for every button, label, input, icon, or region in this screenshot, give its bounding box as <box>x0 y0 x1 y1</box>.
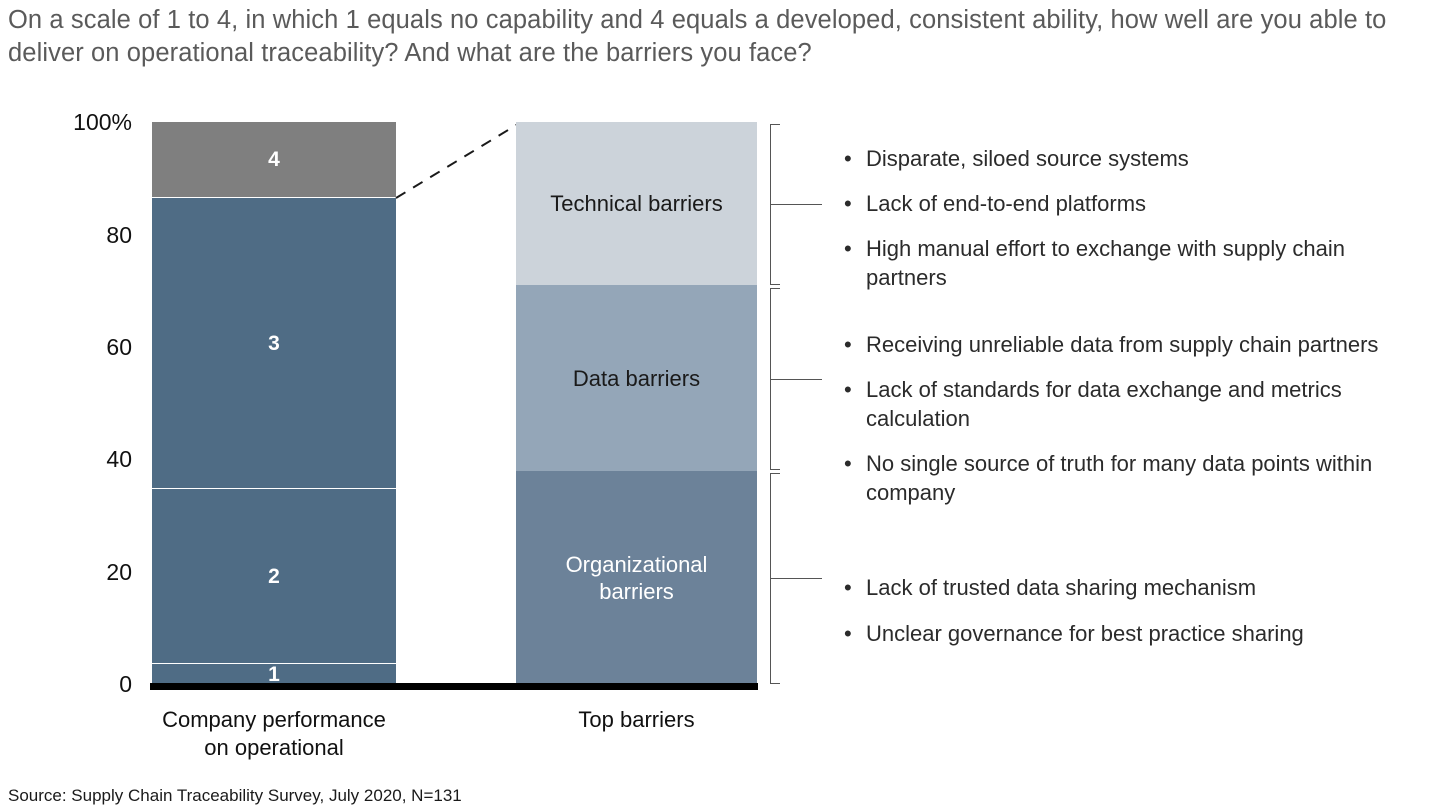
bar-segment-label-organizational-line2: barriers <box>599 579 674 604</box>
bar-segment-data-barriers[interactable]: Data barriers <box>516 285 757 471</box>
bar-segment-label-organizational: Organizational barriers <box>566 551 708 605</box>
bar-segment-score-3[interactable]: 3 <box>152 198 396 489</box>
axis-baseline <box>150 683 758 690</box>
bar-segment-organizational-barriers[interactable]: Organizational barriers <box>516 471 757 684</box>
bracket-data-cap-top <box>770 288 780 289</box>
bullet-item: • Disparate, siloed source systems <box>840 144 1420 173</box>
bullet-text: Unclear governance for best practice sha… <box>866 621 1304 646</box>
y-axis-tick-100: 100% <box>42 111 132 134</box>
x-axis-label-company-line2: on operational <box>204 735 343 760</box>
bullet-text: No single source of truth for many data … <box>866 451 1372 505</box>
chart-plot-area: 100% 80 60 40 20 0 4 3 2 1 Technical bar… <box>0 0 1440 810</box>
bar-segment-label-4: 4 <box>268 146 280 173</box>
bullet-group-data: • Receiving unreliable data from supply … <box>840 330 1420 523</box>
bullet-dot-icon: • <box>844 449 852 478</box>
bullet-dot-icon: • <box>844 189 852 218</box>
bar-company-performance[interactable]: 4 3 2 1 <box>152 122 396 684</box>
bullet-text: Disparate, siloed source systems <box>866 146 1189 171</box>
bracket-organizational-cap-top <box>770 473 780 474</box>
bullet-dot-icon: • <box>844 573 852 602</box>
bullet-group-technical: • Disparate, siloed source systems • Lac… <box>840 144 1420 308</box>
y-axis-tick-40: 40 <box>42 448 132 471</box>
bracket-data <box>770 288 832 470</box>
bullet-text: Receiving unreliable data from supply ch… <box>866 332 1378 357</box>
bracket-organizational-stem <box>770 578 822 579</box>
bullet-dot-icon: • <box>844 234 852 263</box>
y-axis-tick-20: 20 <box>42 561 132 584</box>
bullet-item: • No single source of truth for many dat… <box>840 449 1420 507</box>
bracket-technical <box>770 124 832 285</box>
bullet-item: • Lack of trusted data sharing mechanism <box>840 573 1420 602</box>
bullet-dot-icon: • <box>844 330 852 359</box>
x-axis-label-top-barriers: Top barriers <box>516 706 757 734</box>
bracket-technical-cap-bottom <box>770 284 780 285</box>
y-axis-tick-60: 60 <box>42 336 132 359</box>
bullet-item: • Receiving unreliable data from supply … <box>840 330 1420 359</box>
bar-segment-label-technical: Technical barriers <box>550 190 722 217</box>
x-axis-label-company-line1: Company performance <box>162 707 386 732</box>
bullet-item: • Lack of end-to-end platforms <box>840 189 1420 218</box>
bar-top-barriers[interactable]: Technical barriers Data barriers Organiz… <box>516 122 757 684</box>
y-axis-tick-80: 80 <box>42 224 132 247</box>
bar-segment-technical-barriers[interactable]: Technical barriers <box>516 122 757 285</box>
bar-segment-score-2[interactable]: 2 <box>152 489 396 664</box>
bar-segment-score-1[interactable]: 1 <box>152 664 396 684</box>
bullet-group-organizational: • Lack of trusted data sharing mechanism… <box>840 573 1420 664</box>
bullet-dot-icon: • <box>844 144 852 173</box>
bullet-item: • Unclear governance for best practice s… <box>840 619 1420 648</box>
bullet-text: Lack of end-to-end platforms <box>866 191 1146 216</box>
leader-dashed-line <box>392 118 522 208</box>
bar-segment-score-4[interactable]: 4 <box>152 122 396 198</box>
bracket-technical-stem <box>770 204 822 205</box>
bar-segment-label-3: 3 <box>268 330 280 357</box>
x-axis-label-company-performance: Company performance on operational <box>134 706 414 762</box>
bracket-data-stem <box>770 379 822 380</box>
bullet-item: • Lack of standards for data exchange an… <box>840 375 1420 433</box>
source-note: Source: Supply Chain Traceability Survey… <box>8 786 462 806</box>
bullet-dot-icon: • <box>844 375 852 404</box>
bar-segment-label-data: Data barriers <box>573 365 700 392</box>
bracket-data-cap-bottom <box>770 469 780 470</box>
bullet-dot-icon: • <box>844 619 852 648</box>
bar-segment-label-2: 2 <box>268 563 280 590</box>
bracket-technical-cap-top <box>770 124 780 125</box>
y-axis-tick-0: 0 <box>42 673 132 696</box>
bullet-text: High manual effort to exchange with supp… <box>866 236 1345 290</box>
bullet-text: Lack of standards for data exchange and … <box>866 377 1342 431</box>
bracket-organizational <box>770 473 832 684</box>
bullet-item: • High manual effort to exchange with su… <box>840 234 1420 292</box>
bullet-text: Lack of trusted data sharing mechanism <box>866 575 1256 600</box>
bar-segment-label-organizational-line1: Organizational <box>566 552 708 577</box>
bracket-organizational-cap-bottom <box>770 683 780 684</box>
